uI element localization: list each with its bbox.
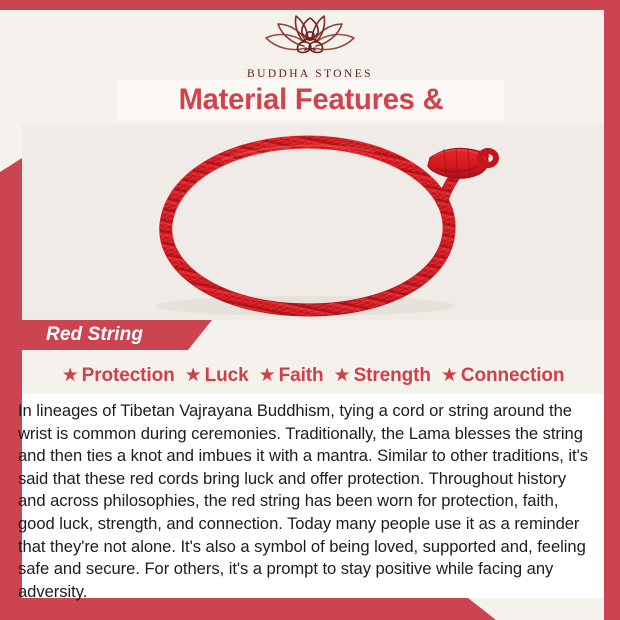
brand-logo: BUDDHA STONES: [0, 12, 620, 80]
frame-right-bar: [604, 0, 620, 620]
benefit-label: Faith: [279, 365, 324, 387]
star-icon: ★: [441, 366, 458, 385]
star-icon: ★: [185, 366, 202, 385]
benefit-item: ★ Faith: [259, 365, 324, 387]
lotus-meditation-icon: [0, 12, 620, 65]
benefit-label: Strength: [354, 365, 431, 387]
product-info-poster: BUDDHA STONES Material Features & Benefi…: [0, 0, 620, 620]
benefit-item: ★ Connection: [441, 365, 565, 387]
page-title: Material Features & Benefits: [124, 79, 498, 121]
frame-top-bar: [0, 0, 620, 10]
benefit-label: Protection: [82, 365, 175, 387]
benefit-item: ★ Strength: [334, 365, 431, 387]
title-band: Material Features & Benefits: [118, 79, 504, 121]
product-image: [22, 124, 604, 320]
benefit-item: ★ Luck: [185, 365, 249, 387]
description-text: In lineages of Tibetan Vajrayana Buddhis…: [18, 400, 594, 603]
product-label-text: Red String: [46, 320, 143, 350]
benefit-label: Luck: [205, 365, 249, 387]
star-icon: ★: [334, 366, 351, 385]
star-icon: ★: [259, 366, 276, 385]
star-icon: ★: [62, 366, 79, 385]
benefits-list: ★ Protection ★ Luck ★ Faith ★ Strength ★…: [22, 360, 604, 392]
benefit-item: ★ Protection: [62, 365, 175, 387]
benefit-label: Connection: [461, 365, 565, 387]
